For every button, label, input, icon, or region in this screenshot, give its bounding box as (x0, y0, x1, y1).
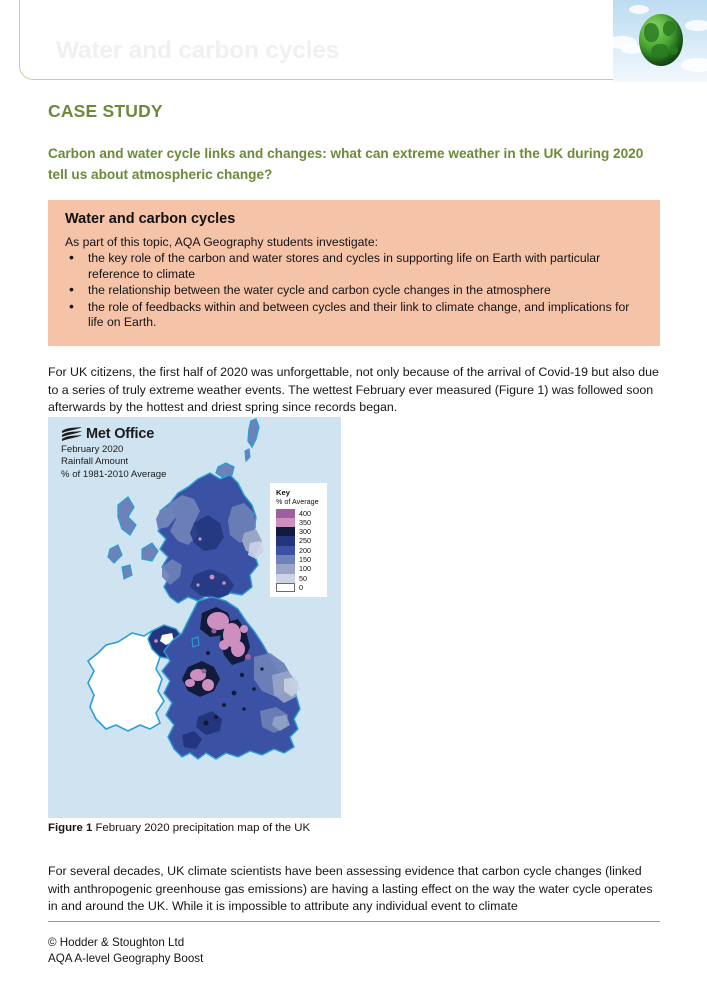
legend-swatch (276, 574, 295, 583)
spec-box-title: Water and carbon cycles (65, 211, 646, 227)
legend-swatch (276, 564, 295, 573)
legend-label: 350 (299, 518, 311, 527)
legend-entry: 350 (276, 518, 323, 527)
footer: © Hodder & Stoughton Ltd AQA A-level Geo… (48, 935, 203, 966)
header-watermark-title: Water and carbon cycles (56, 37, 339, 65)
landmass-shape (651, 44, 668, 58)
legend-entry: 200 (276, 546, 323, 555)
legend-swatch (276, 536, 295, 545)
header-globe-image (613, 0, 707, 82)
met-office-label: Met Office (86, 426, 154, 442)
list-item: the role of feedbacks within and between… (62, 300, 646, 331)
met-office-waves-icon (61, 427, 83, 442)
legend-swatch (276, 518, 295, 527)
legend-swatch (276, 555, 295, 564)
legend-label: 100 (299, 564, 311, 573)
map-subtitle-unit: % of 1981-2010 Average (61, 469, 166, 481)
spec-box-intro: As part of this topic, AQA Geography stu… (65, 234, 646, 250)
legend-unit-label: % of Average (276, 497, 323, 507)
landmass-shape (669, 45, 678, 55)
footer-copyright: © Hodder & Stoughton Ltd (48, 935, 203, 951)
legend-entry: 50 (276, 574, 323, 583)
page-header-banner: Water and carbon cycles (0, 0, 707, 84)
uk-precipitation-map: Met Office February 2020 Rainfall Amount… (48, 417, 341, 818)
specification-callout-box: Water and carbon cycles As part of this … (48, 200, 660, 346)
footer-product: AQA A-level Geography Boost (48, 951, 203, 967)
legend-entry: 300 (276, 527, 323, 536)
figure-caption-text: February 2020 precipitation map of the U… (92, 822, 310, 834)
legend-label: 300 (299, 527, 311, 536)
map-subtitle-metric: Rainfall Amount (61, 456, 166, 468)
legend-title: Key (276, 488, 323, 497)
map-subtitle-date: February 2020 (61, 444, 166, 456)
legend-entry: 250 (276, 536, 323, 545)
legend-entry: 100 (276, 564, 323, 573)
landmass-shape (644, 23, 659, 42)
legend-swatch (276, 546, 295, 555)
list-item: the relationship between the water cycle… (62, 283, 646, 299)
legend-swatch (276, 527, 295, 536)
map-legend-key: Key % of Average 400 350 300 250 (270, 483, 327, 597)
legend-entries: 400 350 300 250 200 (276, 509, 323, 593)
figure-1-map: Met Office February 2020 Rainfall Amount… (48, 417, 341, 818)
case-study-eyebrow: CASE STUDY (48, 101, 163, 122)
legend-label: 50 (299, 574, 307, 583)
cloud-shape (685, 20, 707, 31)
figure-caption: Figure 1 February 2020 precipitation map… (48, 822, 310, 834)
isle-of-man (192, 637, 199, 647)
legend-label: 200 (299, 546, 311, 555)
met-office-branding: Met Office February 2020 Rainfall Amount… (61, 426, 166, 481)
landmass-shape (663, 21, 675, 36)
legend-label: 400 (299, 509, 311, 518)
spec-bullet-list: the key role of the carbon and water sto… (62, 251, 646, 331)
legend-entry: 150 (276, 555, 323, 564)
green-earth-globe-icon (639, 14, 683, 66)
cloud-shape (681, 58, 707, 72)
legend-entry: 0 (276, 583, 323, 592)
footer-divider (48, 921, 660, 922)
legend-label: 150 (299, 555, 311, 564)
body-paragraph-1: For UK citizens, the first half of 2020 … (48, 364, 661, 416)
cloud-shape (629, 5, 649, 14)
page-title: Carbon and water cycle links and changes… (48, 144, 660, 185)
legend-swatch (276, 509, 295, 518)
legend-swatch (276, 583, 295, 592)
list-item: the key role of the carbon and water sto… (62, 251, 646, 282)
legend-label: 0 (299, 583, 303, 592)
legend-entry: 400 (276, 509, 323, 518)
figure-caption-label: Figure 1 (48, 822, 92, 834)
legend-label: 250 (299, 536, 311, 545)
body-paragraph-2: For several decades, UK climate scientis… (48, 863, 661, 915)
